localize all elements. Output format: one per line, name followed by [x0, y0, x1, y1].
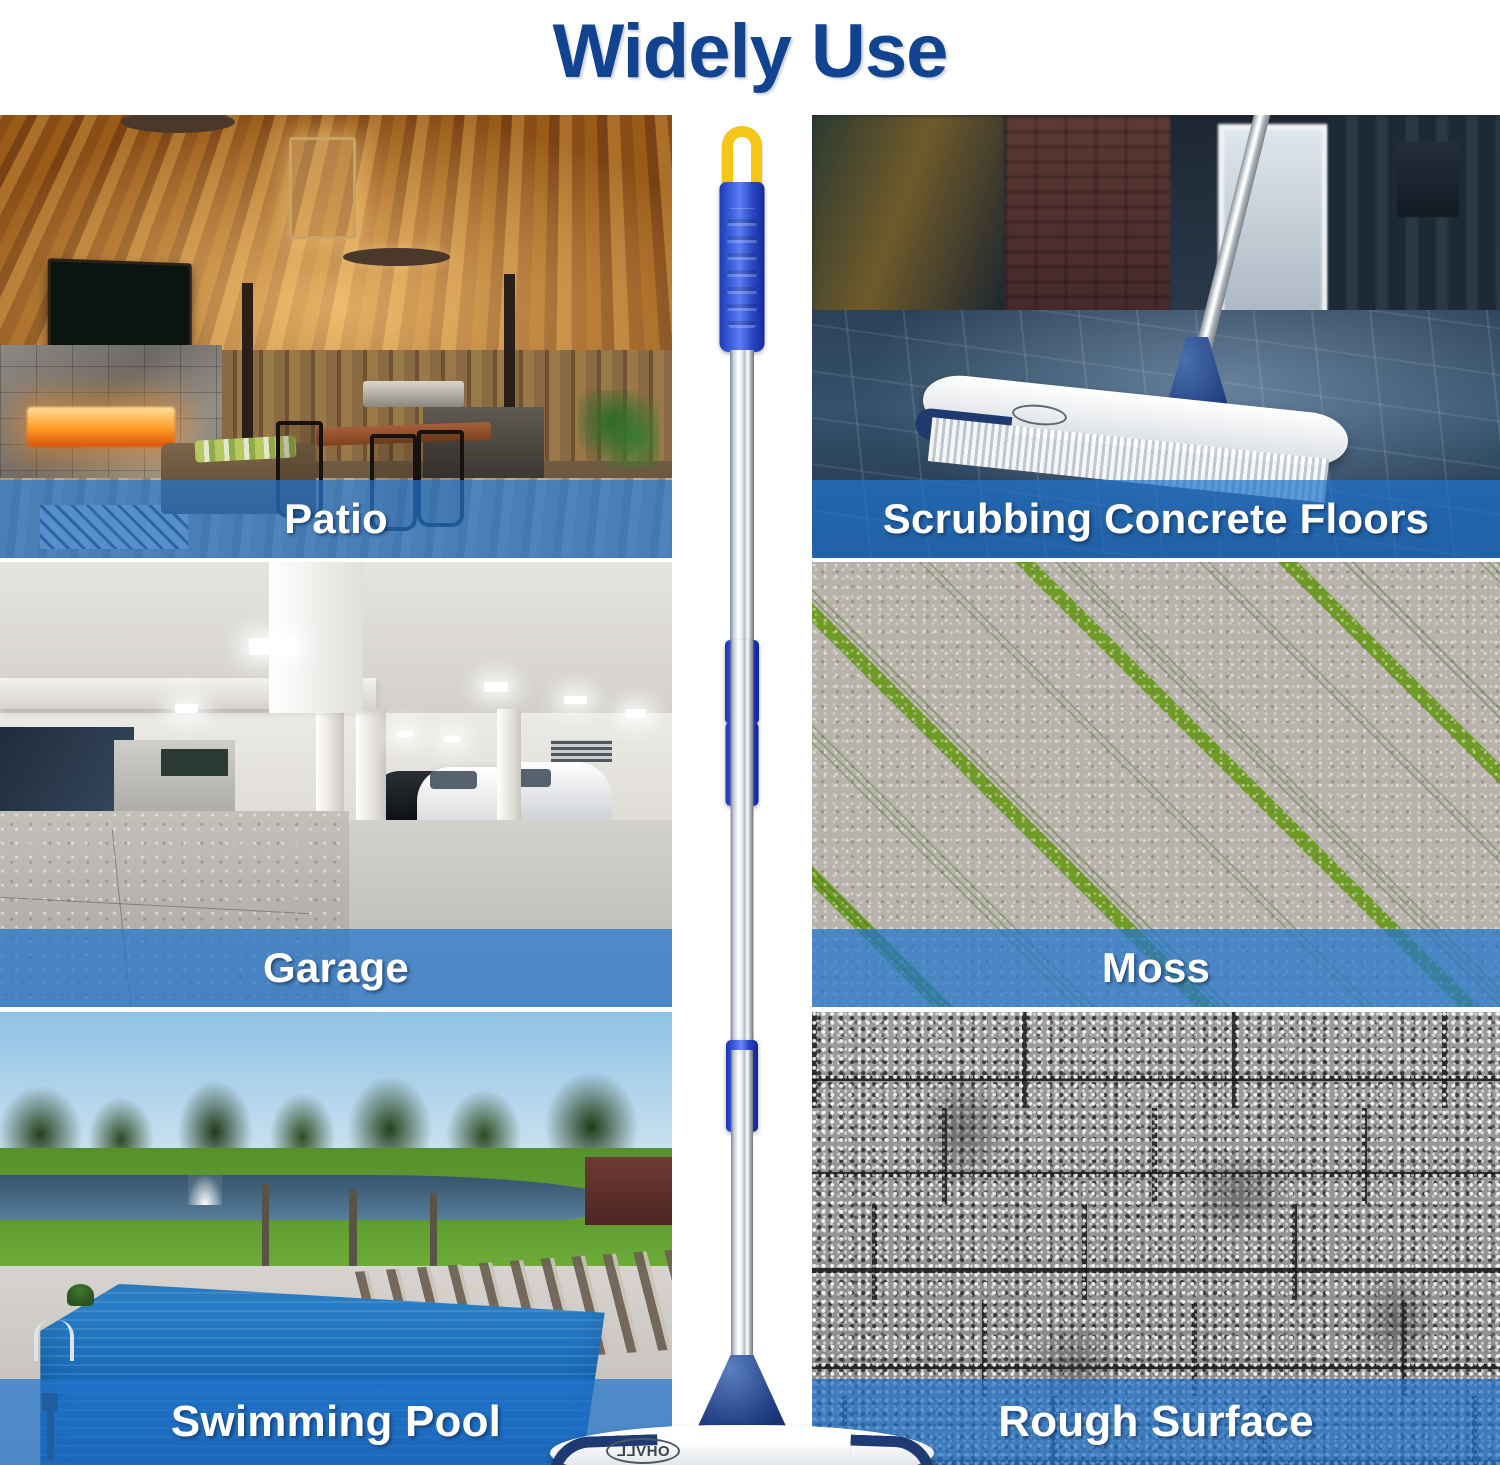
steel-shaft-upper — [730, 350, 754, 650]
panel-garage[interactable]: Garage — [0, 562, 672, 1007]
fireplace-flame — [27, 407, 175, 447]
steel-shaft-middle — [731, 640, 754, 1060]
caption-moss: Moss — [1102, 944, 1210, 992]
caption-band-patio: Patio — [0, 480, 672, 558]
infographic-page: Widely Use — [0, 0, 1500, 1465]
wall-tv — [48, 258, 192, 352]
ceiling-light-icon — [175, 704, 198, 713]
panel-moss[interactable]: Moss — [812, 562, 1500, 1007]
caption-band-moss: Moss — [812, 929, 1500, 1007]
caption-garage: Garage — [263, 944, 409, 992]
caption-swimming-pool: Swimming Pool — [171, 1397, 501, 1447]
mailbox-icon — [1397, 142, 1459, 217]
panel-swimming-pool[interactable]: Swimming Pool — [0, 1012, 672, 1465]
caption-band-scrubbing: Scrubbing Concrete Floors — [812, 480, 1500, 558]
panel-scrubbing-concrete-floors[interactable]: Scrubbing Concrete Floors — [812, 115, 1500, 558]
ceiling-light-icon — [396, 731, 412, 737]
ceiling-light-icon — [484, 682, 508, 692]
pond-fountain — [188, 1175, 222, 1204]
ceiling-light-icon — [249, 638, 296, 656]
steel-shaft-lower — [731, 1050, 753, 1360]
panel-rough-surface[interactable]: Rough Surface — [812, 1012, 1500, 1465]
page-title: Widely Use — [0, 2, 1500, 102]
ribbed-grip — [720, 182, 765, 352]
caption-scrubbing-concrete-floors: Scrubbing Concrete Floors — [883, 495, 1429, 543]
panel-patio[interactable]: Patio — [0, 115, 672, 558]
caption-rough-surface: Rough Surface — [998, 1397, 1314, 1447]
ceiling-fan-icon — [343, 248, 451, 266]
chandelier-icon — [289, 137, 356, 239]
pool-ladder-icon — [34, 1320, 74, 1361]
caption-band-garage: Garage — [0, 929, 672, 1007]
product-telescopic-brush[interactable]: OHVLL — [672, 100, 812, 1465]
ceiling-light-icon — [444, 736, 460, 742]
ceiling-light-icon — [625, 709, 647, 718]
caption-patio: Patio — [284, 495, 388, 543]
ceiling-light-icon — [564, 696, 587, 705]
brand-logo-text: OHVLL — [606, 1438, 680, 1464]
